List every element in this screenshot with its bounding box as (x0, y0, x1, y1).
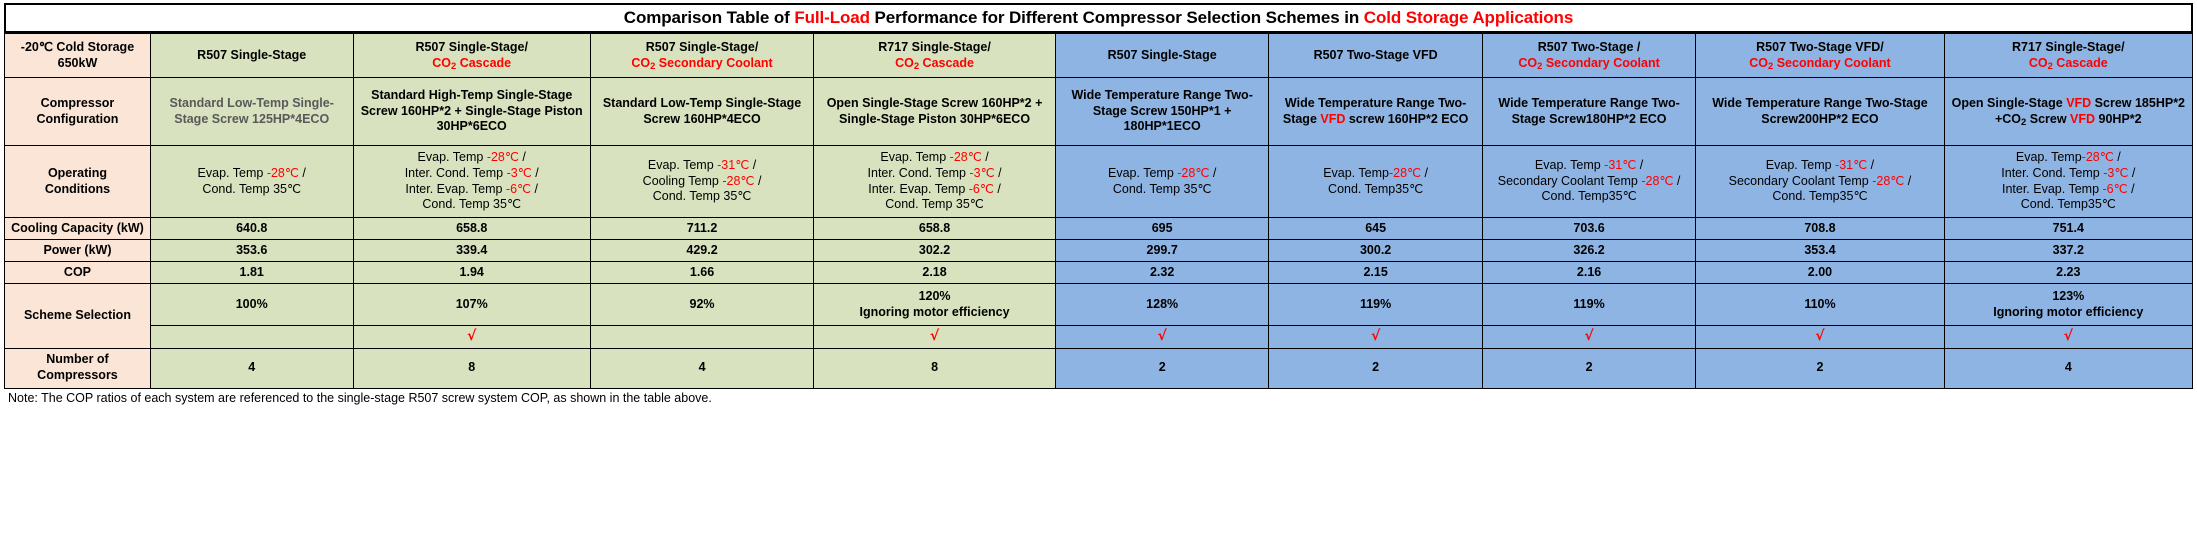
cell-compressors-9: 4 (1944, 348, 2192, 388)
cell-cooling-capacity-4: 658.8 (814, 218, 1056, 240)
cell-compressors-8: 2 (1696, 348, 1944, 388)
cell-power-3: 429.2 (590, 240, 813, 262)
cell-power-5: 299.7 (1055, 240, 1268, 262)
cell-conditions-6: Evap. Temp-28℃ /Cond. Temp35℃ (1269, 146, 1482, 218)
title-prefix: Comparison Table of (624, 8, 795, 27)
cell-scheme-pct-5: 128% (1055, 284, 1268, 326)
page-title: Comparison Table of Full-Load Performanc… (624, 8, 1573, 28)
column-header-7: R507 Two-Stage /CO2 Secondary Coolant (1482, 34, 1695, 78)
table-footnote: Note: The COP ratios of each system are … (4, 389, 2193, 405)
cell-scheme-pct-2: 107% (353, 284, 590, 326)
header-main: R507 Single-Stage/ (415, 40, 528, 54)
cell-cooling-capacity-9: 751.4 (1944, 218, 2192, 240)
corner-line-2: 650kW (8, 56, 147, 72)
header-sub: CO2 Secondary Coolant (1699, 56, 1940, 72)
cell-cop-3: 1.66 (590, 262, 813, 284)
cell-power-6: 300.2 (1269, 240, 1482, 262)
cell-power-4: 302.2 (814, 240, 1056, 262)
scheme-pct: 123% (1948, 289, 2189, 305)
check-icon: √ (2064, 328, 2073, 344)
scheme-note: Ignoring motor efficiency (817, 305, 1052, 321)
title-highlight-full-load: Full-Load (794, 8, 870, 27)
cell-cop-6: 2.15 (1269, 262, 1482, 284)
column-header-5: R507 Single-Stage (1055, 34, 1268, 78)
header-main: R507 Single-Stage (1108, 48, 1217, 62)
cell-selected-2[interactable]: √ (353, 326, 590, 349)
cell-scheme-pct-7: 119% (1482, 284, 1695, 326)
cell-conditions-3: Evap. Temp -31℃ /Cooling Temp -28℃ /Cond… (590, 146, 813, 218)
cell-compressors-2: 8 (353, 348, 590, 388)
column-header-4: R717 Single-Stage/CO2 Cascade (814, 34, 1056, 78)
cell-compressors-3: 4 (590, 348, 813, 388)
cell-conditions-2: Evap. Temp -28℃ /Inter. Cond. Temp -3℃ /… (353, 146, 590, 218)
cell-scheme-pct-9: 123%Ignoring motor efficiency (1944, 284, 2192, 326)
cell-selected-3[interactable] (590, 326, 813, 349)
cell-scheme-pct-3: 92% (590, 284, 813, 326)
header-main: R717 Single-Stage/ (2012, 40, 2125, 54)
column-header-3: R507 Single-Stage/CO2 Secondary Coolant (590, 34, 813, 78)
cell-configuration-4: Open Single-Stage Screw 160HP*2 + Single… (814, 78, 1056, 146)
cell-conditions-7: Evap. Temp -31℃ /Secondary Coolant Temp … (1482, 146, 1695, 218)
scheme-pct: 119% (1486, 297, 1692, 313)
cell-selected-8[interactable]: √ (1696, 326, 1944, 349)
cell-scheme-pct-1: 100% (150, 284, 353, 326)
scheme-pct: 107% (357, 297, 587, 313)
cell-cop-8: 2.00 (1696, 262, 1944, 284)
scheme-pct: 128% (1059, 297, 1265, 313)
cell-configuration-3: Standard Low-Temp Single-Stage Screw 160… (590, 78, 813, 146)
column-header-2: R507 Single-Stage/CO2 Cascade (353, 34, 590, 78)
comparison-table: -20℃ Cold Storage650kWR507 Single-StageR… (4, 33, 2193, 389)
cell-configuration-8: Wide Temperature Range Two-Stage Screw20… (1696, 78, 1944, 146)
cell-compressors-4: 8 (814, 348, 1056, 388)
cell-configuration-1: Standard Low-Temp Single-Stage Screw 125… (150, 78, 353, 146)
cell-selected-7[interactable]: √ (1482, 326, 1695, 349)
cell-power-8: 353.4 (1696, 240, 1944, 262)
cell-cooling-capacity-8: 708.8 (1696, 218, 1944, 240)
row-label-scheme-selection: Scheme Selection (5, 284, 151, 349)
comparison-table-page: Comparison Table of Full-Load Performanc… (0, 0, 2197, 539)
header-main: R507 Single-Stage/ (646, 40, 759, 54)
cell-selected-5[interactable]: √ (1055, 326, 1268, 349)
header-sub: CO2 Cascade (817, 56, 1052, 72)
cell-cooling-capacity-5: 695 (1055, 218, 1268, 240)
header-main: R507 Two-Stage VFD (1314, 48, 1438, 62)
cell-power-2: 339.4 (353, 240, 590, 262)
check-icon: √ (1371, 328, 1380, 344)
cell-configuration-2: Standard High-Temp Single-Stage Screw 16… (353, 78, 590, 146)
header-sub: CO2 Cascade (357, 56, 587, 72)
scheme-note: Ignoring motor efficiency (1948, 305, 2189, 321)
cell-compressors-7: 2 (1482, 348, 1695, 388)
cell-compressors-5: 2 (1055, 348, 1268, 388)
cell-scheme-pct-6: 119% (1269, 284, 1482, 326)
cell-cop-5: 2.32 (1055, 262, 1268, 284)
cell-selected-1[interactable] (150, 326, 353, 349)
row-label-number-of-compressors: Number ofCompressors (5, 348, 151, 388)
row-label-operating-conditions: OperatingConditions (5, 146, 151, 218)
check-icon: √ (930, 328, 939, 344)
cell-cooling-capacity-6: 645 (1269, 218, 1482, 240)
cell-cooling-capacity-1: 640.8 (150, 218, 353, 240)
title-highlight-cold-storage: Cold Storage Applications (1364, 8, 1573, 27)
cell-scheme-pct-4: 120%Ignoring motor efficiency (814, 284, 1056, 326)
row-label-cooling-capacity: Cooling Capacity (kW) (5, 218, 151, 240)
cell-conditions-1: Evap. Temp -28℃ /Cond. Temp 35℃ (150, 146, 353, 218)
column-header-9: R717 Single-Stage/CO2 Cascade (1944, 34, 2192, 78)
cell-compressors-1: 4 (150, 348, 353, 388)
cell-compressors-6: 2 (1269, 348, 1482, 388)
cell-cop-7: 2.16 (1482, 262, 1695, 284)
cell-cop-4: 2.18 (814, 262, 1056, 284)
scheme-pct: 100% (154, 297, 350, 313)
cell-conditions-9: Evap. Temp-28℃ /Inter. Cond. Temp -3℃ /I… (1944, 146, 2192, 218)
row-label-cop: COP (5, 262, 151, 284)
cell-cooling-capacity-7: 703.6 (1482, 218, 1695, 240)
row-label-compressor-configuration: CompressorConfiguration (5, 78, 151, 146)
check-icon: √ (1815, 328, 1824, 344)
header-main: R507 Two-Stage / (1538, 40, 1641, 54)
column-header-1: R507 Single-Stage (150, 34, 353, 78)
corner-line-1: -20℃ Cold Storage (8, 40, 147, 56)
cell-configuration-7: Wide Temperature Range Two-Stage Screw18… (1482, 78, 1695, 146)
cell-configuration-6: Wide Temperature Range Two-Stage VFD scr… (1269, 78, 1482, 146)
check-icon: √ (467, 328, 476, 344)
row-label-power: Power (kW) (5, 240, 151, 262)
cell-cop-1: 1.81 (150, 262, 353, 284)
scheme-pct: 120% (817, 289, 1052, 305)
scheme-pct: 92% (594, 297, 810, 313)
cell-power-1: 353.6 (150, 240, 353, 262)
cell-conditions-4: Evap. Temp -28℃ /Inter. Cond. Temp -3℃ /… (814, 146, 1056, 218)
cell-configuration-5: Wide Temperature Range Two-Stage Screw 1… (1055, 78, 1268, 146)
cell-conditions-5: Evap. Temp -28℃ /Cond. Temp 35℃ (1055, 146, 1268, 218)
scheme-pct: 110% (1699, 297, 1940, 313)
cell-selected-6[interactable]: √ (1269, 326, 1482, 349)
cell-cooling-capacity-3: 711.2 (590, 218, 813, 240)
header-sub: CO2 Secondary Coolant (594, 56, 810, 72)
cell-configuration-9: Open Single-Stage VFD Screw 185HP*2 +CO2… (1944, 78, 2192, 146)
cell-conditions-8: Evap. Temp -31℃ /Secondary Coolant Temp … (1696, 146, 1944, 218)
cell-selected-9[interactable]: √ (1944, 326, 2192, 349)
header-main: R507 Single-Stage (197, 48, 306, 62)
cell-selected-4[interactable]: √ (814, 326, 1056, 349)
cell-cop-2: 1.94 (353, 262, 590, 284)
check-icon: √ (1157, 328, 1166, 344)
table-title-bar: Comparison Table of Full-Load Performanc… (4, 3, 2193, 33)
scheme-pct: 119% (1272, 297, 1478, 313)
table-corner-label: -20℃ Cold Storage650kW (5, 34, 151, 78)
cell-power-9: 337.2 (1944, 240, 2192, 262)
header-main: R717 Single-Stage/ (878, 40, 991, 54)
cell-cooling-capacity-2: 658.8 (353, 218, 590, 240)
header-main: R507 Two-Stage VFD/ (1756, 40, 1884, 54)
header-sub: CO2 Secondary Coolant (1486, 56, 1692, 72)
check-icon: √ (1584, 328, 1593, 344)
header-sub: CO2 Cascade (1948, 56, 2189, 72)
cell-scheme-pct-8: 110% (1696, 284, 1944, 326)
cell-power-7: 326.2 (1482, 240, 1695, 262)
column-header-6: R507 Two-Stage VFD (1269, 34, 1482, 78)
column-header-8: R507 Two-Stage VFD/CO2 Secondary Coolant (1696, 34, 1944, 78)
cell-cop-9: 2.23 (1944, 262, 2192, 284)
title-middle: Performance for Different Compressor Sel… (870, 8, 1364, 27)
